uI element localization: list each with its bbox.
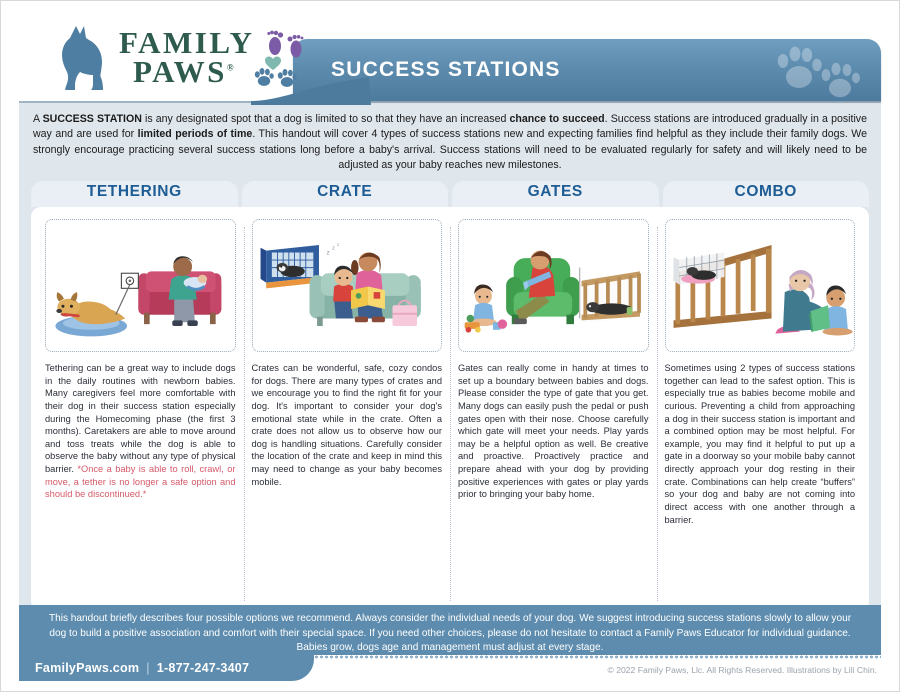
tab-crate[interactable]: CRATE	[242, 181, 449, 207]
intro-bold-3: limited periods of time	[138, 128, 253, 140]
svg-text:z: z	[326, 249, 329, 256]
tab-gates[interactable]: GATES	[452, 181, 659, 207]
intro-part-1: A	[33, 113, 43, 125]
intro-bold-2: chance to succeed	[510, 113, 605, 125]
toddler	[333, 266, 354, 319]
phone-number[interactable]: 1-877-247-3407	[157, 661, 249, 675]
tethering-illustration	[45, 219, 236, 352]
baby-feet-icon	[285, 32, 305, 60]
card-body-tethering: Tethering can be a great way to include …	[45, 363, 236, 474]
banner-paw-watermark	[771, 43, 867, 101]
page-title: SUCCESS STATIONS	[331, 58, 561, 82]
copyright-text: © 2022 Family Paws, Llc. All Rights Rese…	[607, 665, 877, 675]
intro-part-2: is any designated spot that a dog is lim…	[142, 113, 510, 125]
logo-icon-cluster	[259, 26, 313, 90]
combo-illustration	[665, 219, 856, 352]
main-content-panel: A SUCCESS STATION is any designated spot…	[19, 101, 881, 619]
card-gates: Gates can really come in handy at times …	[450, 213, 657, 607]
logo-line-paws: PAWS®	[133, 58, 255, 87]
gates-scene-svg	[459, 220, 648, 351]
logo-wordmark: FAMILY PAWS®	[119, 29, 255, 86]
tethering-scene-svg	[46, 220, 235, 351]
header-banner: SUCCESS STATIONS	[293, 39, 881, 101]
card-text-combo: Sometimes using 2 types of success stati…	[665, 362, 856, 526]
card-text-gates: Gates can really come in handy at times …	[458, 362, 649, 501]
card-body-gates: Gates can really come in handy at times …	[458, 363, 649, 499]
combo-scene-svg	[666, 220, 855, 351]
crate-illustration: z z z	[252, 219, 443, 352]
card-body-crate: Crates can be wonderful, safe, cozy cond…	[252, 363, 443, 487]
section-cards: Tethering can be a great way to include …	[31, 207, 869, 611]
crate-scene-svg: z z z	[253, 220, 442, 351]
card-text-crate: Crates can be wonderful, safe, cozy cond…	[252, 362, 443, 488]
tab-combo[interactable]: COMBO	[663, 181, 870, 207]
handout-page: FAMILY PAWS®	[0, 0, 900, 692]
paw-print-icon	[253, 66, 275, 88]
card-text-tethering: Tethering can be a great way to include …	[45, 362, 236, 501]
bottom-contact-bar: FamilyPaws.com | 1-877-247-3407	[19, 655, 314, 681]
website-link[interactable]: FamilyPaws.com	[35, 661, 139, 675]
footer-note: This handout briefly describes four poss…	[19, 605, 881, 655]
section-tabs: TETHERING CRATE GATES COMBO	[31, 181, 869, 207]
paw-print-icon	[276, 67, 298, 89]
intro-bold-1: SUCCESS STATION	[43, 113, 142, 125]
tab-tethering[interactable]: TETHERING	[31, 181, 238, 207]
card-crate: z z z	[244, 213, 451, 607]
card-tethering: Tethering can be a great way to include …	[37, 213, 244, 607]
gates-illustration	[458, 219, 649, 352]
svg-text:z: z	[332, 246, 335, 252]
intro-paragraph: A SUCCESS STATION is any designated spot…	[19, 103, 881, 179]
sitting-dog-silhouette-icon	[53, 22, 111, 94]
bottom-bar-separator: |	[146, 661, 149, 675]
card-combo: Sometimes using 2 types of success stati…	[657, 213, 864, 607]
family-paws-logo: FAMILY PAWS®	[53, 17, 313, 99]
registered-mark: ®	[227, 63, 234, 73]
card-body-combo: Sometimes using 2 types of success stati…	[665, 363, 856, 525]
